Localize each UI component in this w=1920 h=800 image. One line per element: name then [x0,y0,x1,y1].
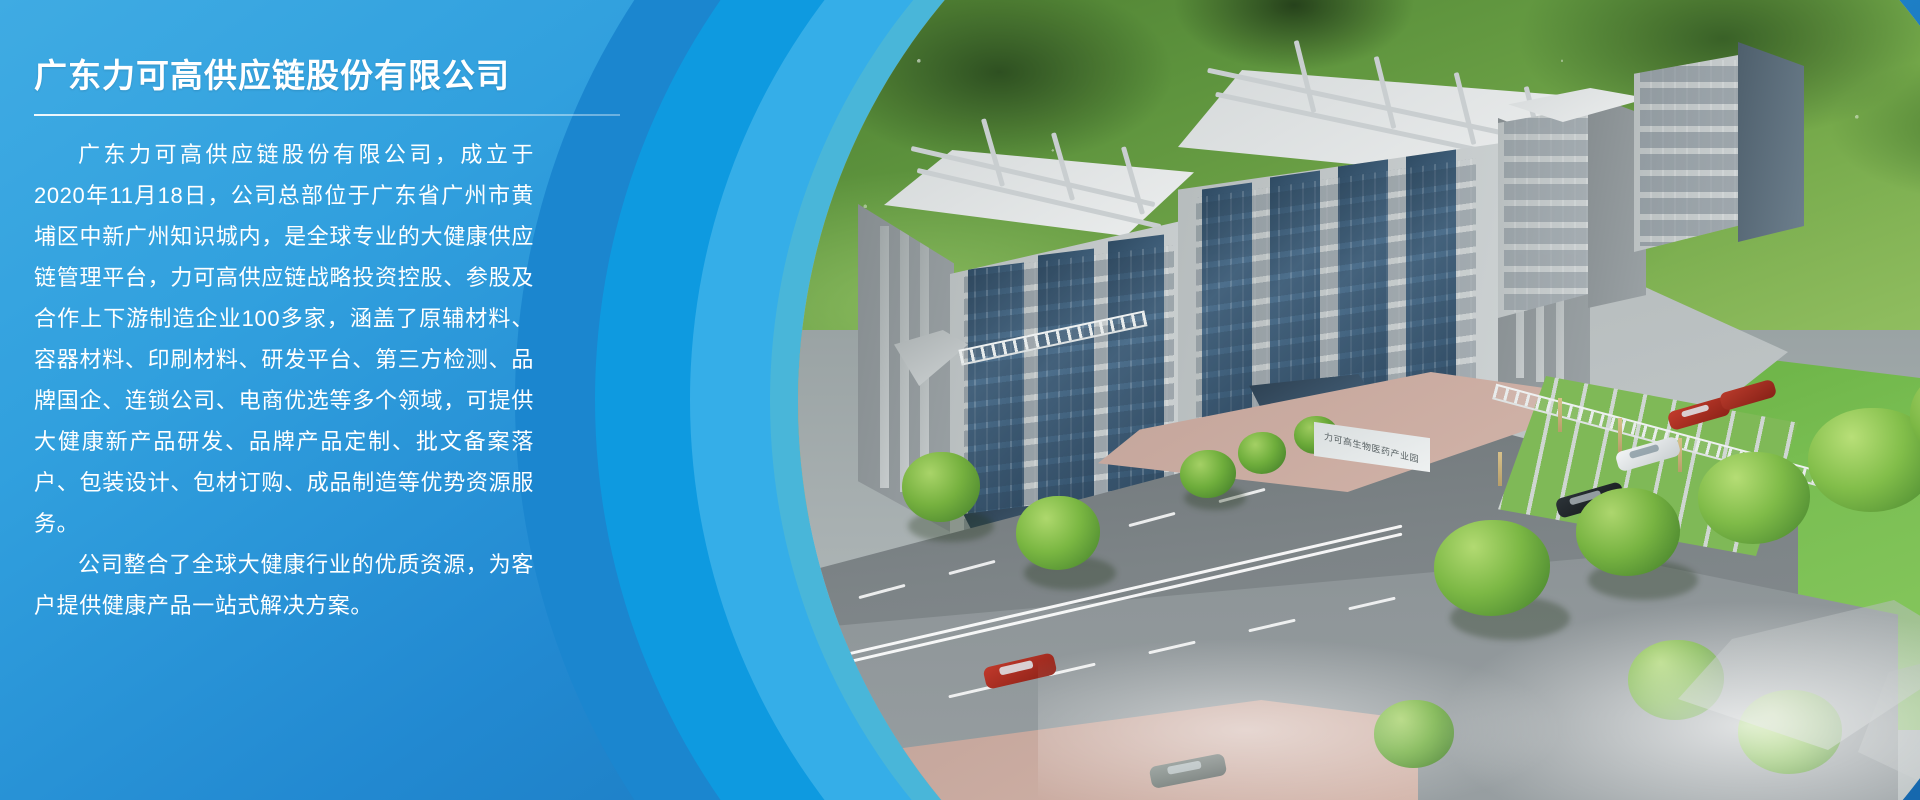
rear-building-b [1634,40,1814,290]
company-description: 广东力可高供应链股份有限公司，成立于2020年11月18日，公司总部位于广东省广… [34,134,534,626]
hero-photo-circle: 力可高生物医药产业园 [798,0,1920,800]
page-title: 广东力可高供应链股份有限公司 [34,56,560,96]
title-divider [34,114,620,116]
description-paragraph-1: 广东力可高供应链股份有限公司，成立于2020年11月18日，公司总部位于广东省广… [34,134,534,544]
description-paragraph-2: 公司整合了全球大健康行业的优质资源，为客户提供健康产品一站式解决方案。 [34,544,534,626]
tower-roof-truss [898,144,1198,236]
text-panel: 广东力可高供应链股份有限公司 广东力可高供应链股份有限公司，成立于2020年11… [0,0,560,800]
rear-building-a [1498,88,1648,348]
banner-stage: 力可高生物医药产业园 广东力可高供应链股份有限公司 广东力可高供应链股份有限公司… [0,0,1920,800]
atmospheric-haze-lower [1038,640,1558,800]
aerial-campus-photo: 力可高生物医药产业园 [798,0,1920,800]
